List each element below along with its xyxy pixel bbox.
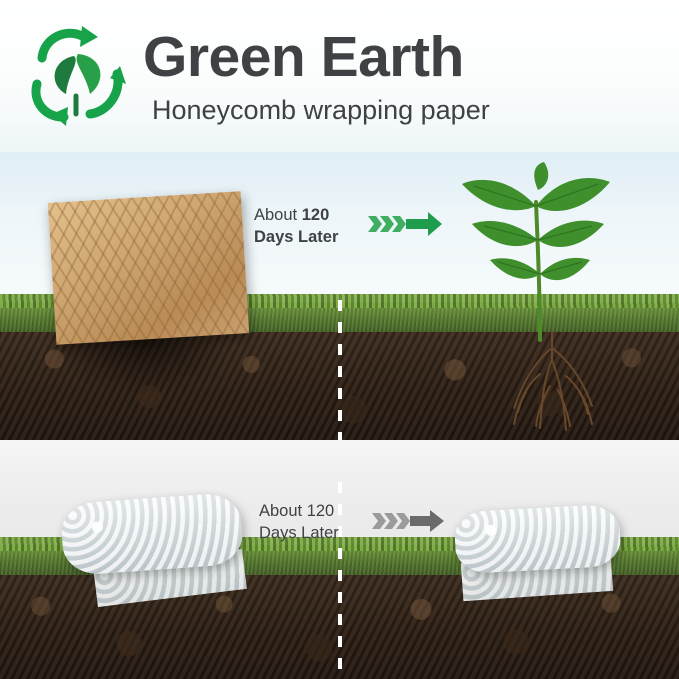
top-label-days-number: 120 [302,206,330,224]
green-arrow-icon [368,210,442,238]
bubble-wrap-roll-right [453,504,621,575]
brand-title: Green Earth [143,24,464,90]
top-label-about: About [254,206,302,224]
bottom-label-line1: About 120 [259,502,334,520]
dashed-divider-top [338,300,342,440]
top-transition-label: About 120 Days Later [254,204,384,248]
brand-subtitle: Honeycomb wrapping paper [152,93,490,127]
header-banner: Green Earth Honeycomb wrapping paper [0,0,679,152]
panel-honeycomb-biodegradable: About 120 Days Later [0,152,679,440]
plant-roots [492,330,612,435]
recycle-leaf-logo-icon [22,22,130,126]
panel-plastic-nonbiodegradable: About 120 Days Later [0,440,679,679]
top-label-days-later: Days Later [254,228,338,246]
bottom-label-line2: Days Later [259,524,339,542]
gray-arrow-icon [372,508,444,534]
seedling-plant [440,162,640,342]
product-infographic: Green Earth Honeycomb wrapping paper [0,0,679,679]
bubble-wrap-roll-left [60,492,245,576]
bottom-transition-label: About 120 Days Later [259,500,389,544]
honeycomb-paper-sheet [48,191,249,345]
